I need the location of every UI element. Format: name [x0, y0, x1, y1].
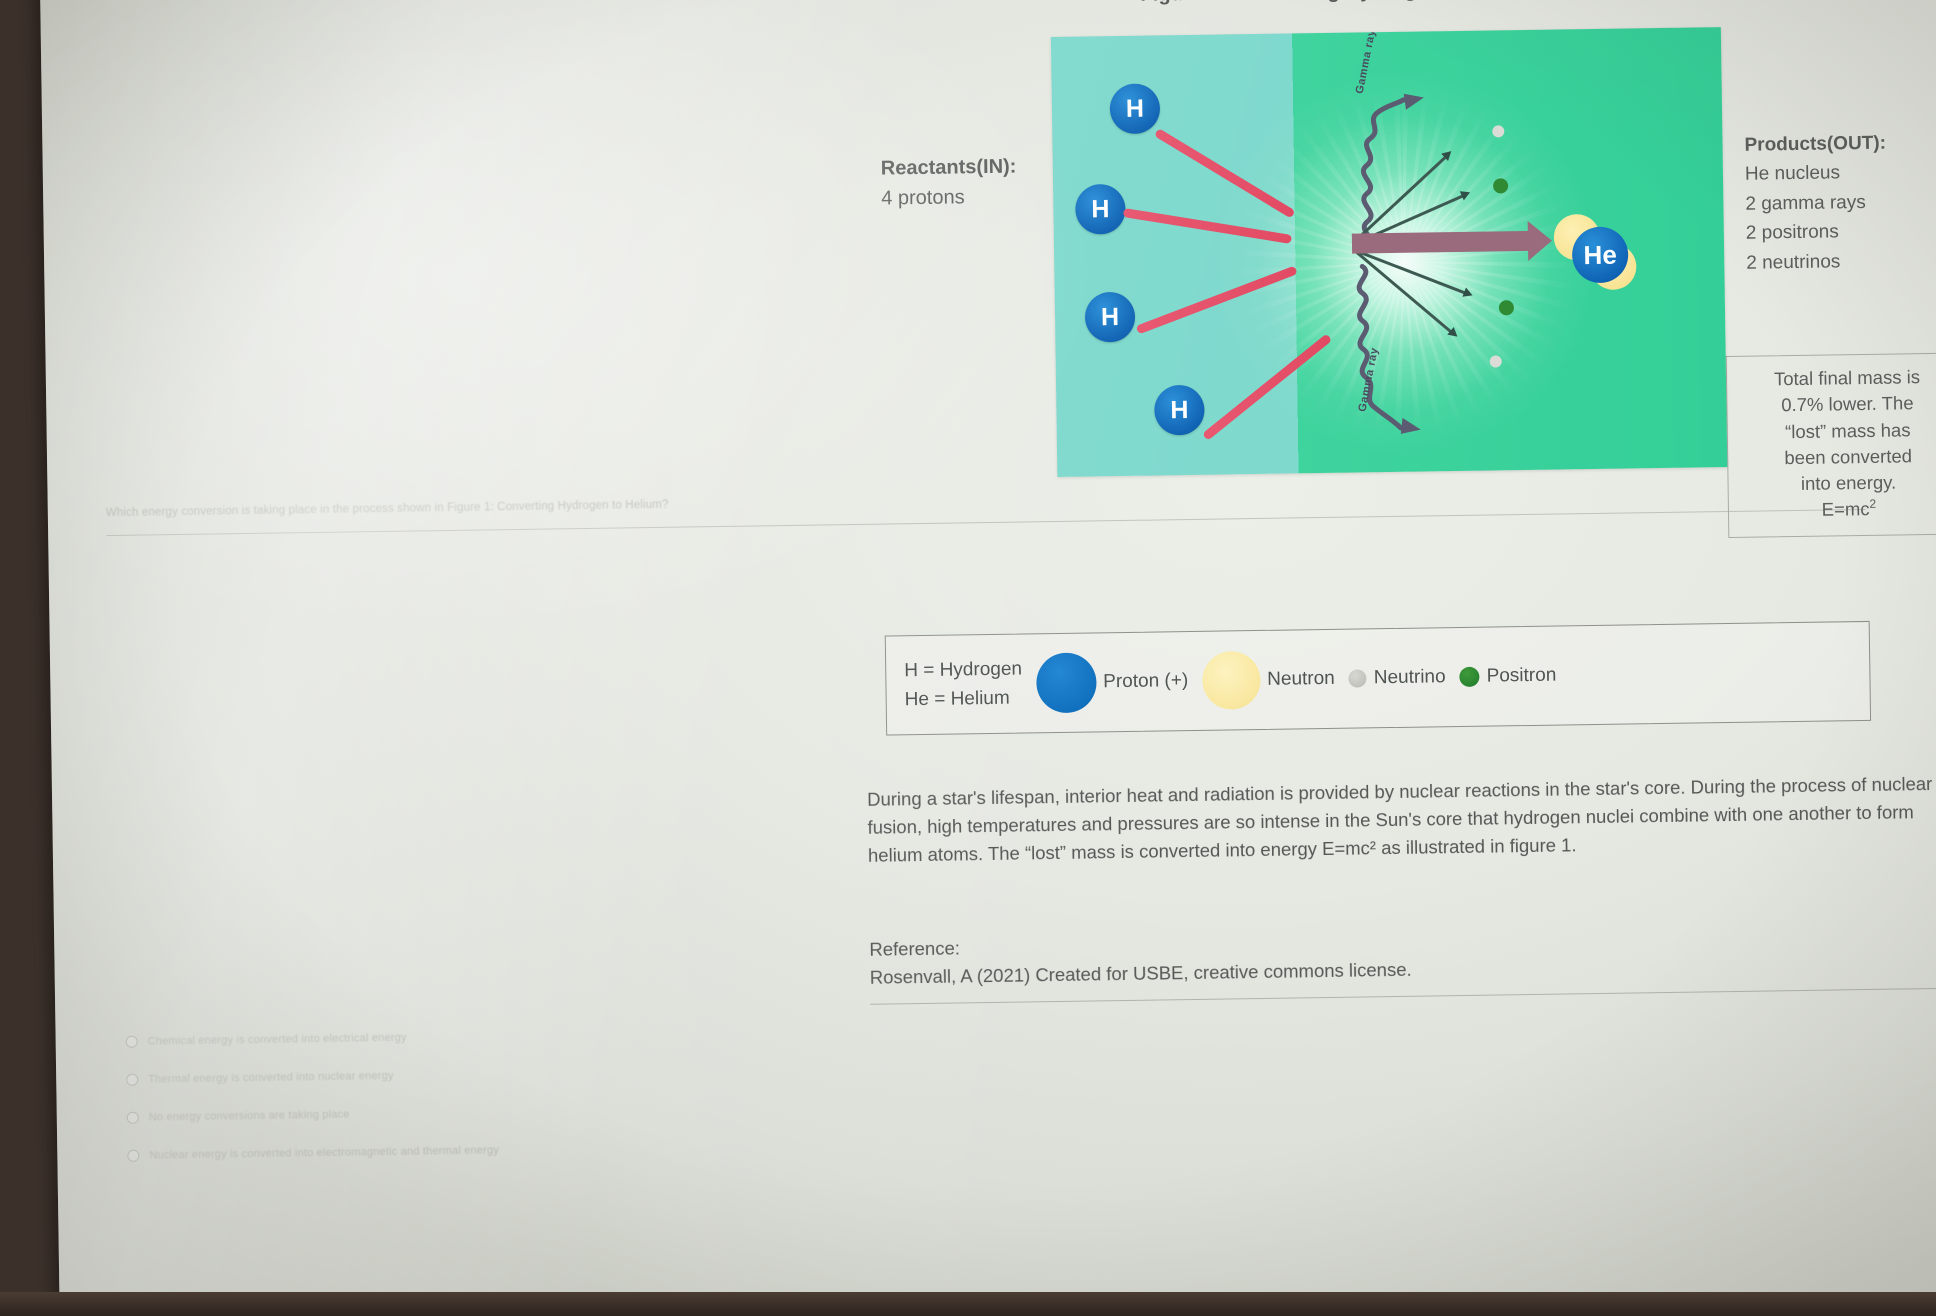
products-label: Products(OUT): He nucleus 2 gamma rays 2…	[1744, 127, 1936, 278]
mass-note-line: “lost” mass has	[1734, 416, 1936, 446]
helium-nucleus: He	[1554, 213, 1647, 292]
mass-conversion-note: Total final mass is 0.7% lower. The “los…	[1726, 352, 1936, 537]
products-item: 2 gamma rays	[1745, 186, 1936, 219]
mass-note-line: Total final mass is	[1733, 364, 1936, 394]
photographed-screen: Which energy conversion is taking place …	[0, 0, 1936, 1316]
hydrogen-atom-2: H	[1075, 184, 1126, 235]
positron-particle-1	[1493, 178, 1508, 193]
products-item: He nucleus	[1745, 157, 1936, 190]
screen-surface: Which energy conversion is taking place …	[40, 0, 1936, 1316]
legend-abbr-hydrogen: H = Hydrogen	[904, 654, 1022, 685]
hydrogen-atom-1: H	[1110, 83, 1161, 134]
desk-edge	[0, 1292, 1936, 1316]
positron-circle-icon	[1459, 667, 1479, 687]
mass-note-line: into energy.	[1734, 469, 1936, 499]
products-item: 2 neutrinos	[1746, 245, 1936, 278]
legend-item-positron: Positron	[1459, 665, 1556, 688]
legend-abbr-helium: He = Helium	[904, 684, 1022, 715]
legend-item-neutron: Neutron	[1202, 650, 1335, 710]
reference-block: Reference: Rosenvall, A (2021) Created f…	[869, 922, 1770, 992]
neutron-circle-icon	[1202, 651, 1261, 710]
body-paragraph: During a star's lifespan, interior heat …	[867, 770, 1936, 870]
fusion-output-arrow	[1352, 231, 1530, 254]
reactants-heading: Reactants(IN):	[881, 151, 1071, 184]
fusion-diagram: H H H H Gamma ray Gamma	[1051, 27, 1727, 477]
mass-note-line: been converted	[1734, 442, 1936, 472]
reference-divider	[870, 988, 1936, 1005]
proton-circle-icon	[1036, 652, 1097, 713]
mass-note-line: 0.7% lower. The	[1733, 390, 1936, 420]
neutrino-circle-icon	[1349, 669, 1367, 687]
reactants-line: 4 protons	[881, 181, 1071, 214]
reactants-label: Reactants(IN): 4 protons	[881, 151, 1072, 214]
legend-label: Proton (+)	[1103, 670, 1188, 693]
mass-energy-equation: E=mc2	[1735, 495, 1936, 525]
legend-abbreviations: H = Hydrogen He = Helium	[904, 654, 1023, 715]
products-item: 2 positrons	[1746, 216, 1936, 249]
legend-label: Neutrino	[1374, 666, 1446, 689]
legend-label: Positron	[1486, 665, 1556, 688]
legend-item-neutrino: Neutrino	[1349, 666, 1446, 689]
legend-item-proton: Proton (+)	[1036, 651, 1189, 713]
figure-title: Figure 1: Converting Hydrogen to Helium	[1140, 0, 1539, 7]
legend-label: Neutron	[1267, 668, 1335, 691]
hydrogen-atom-3: H	[1085, 292, 1136, 343]
diagram-legend: H = Hydrogen He = Helium Proton (+) Neut…	[885, 621, 1871, 736]
products-heading: Products(OUT):	[1744, 127, 1936, 160]
